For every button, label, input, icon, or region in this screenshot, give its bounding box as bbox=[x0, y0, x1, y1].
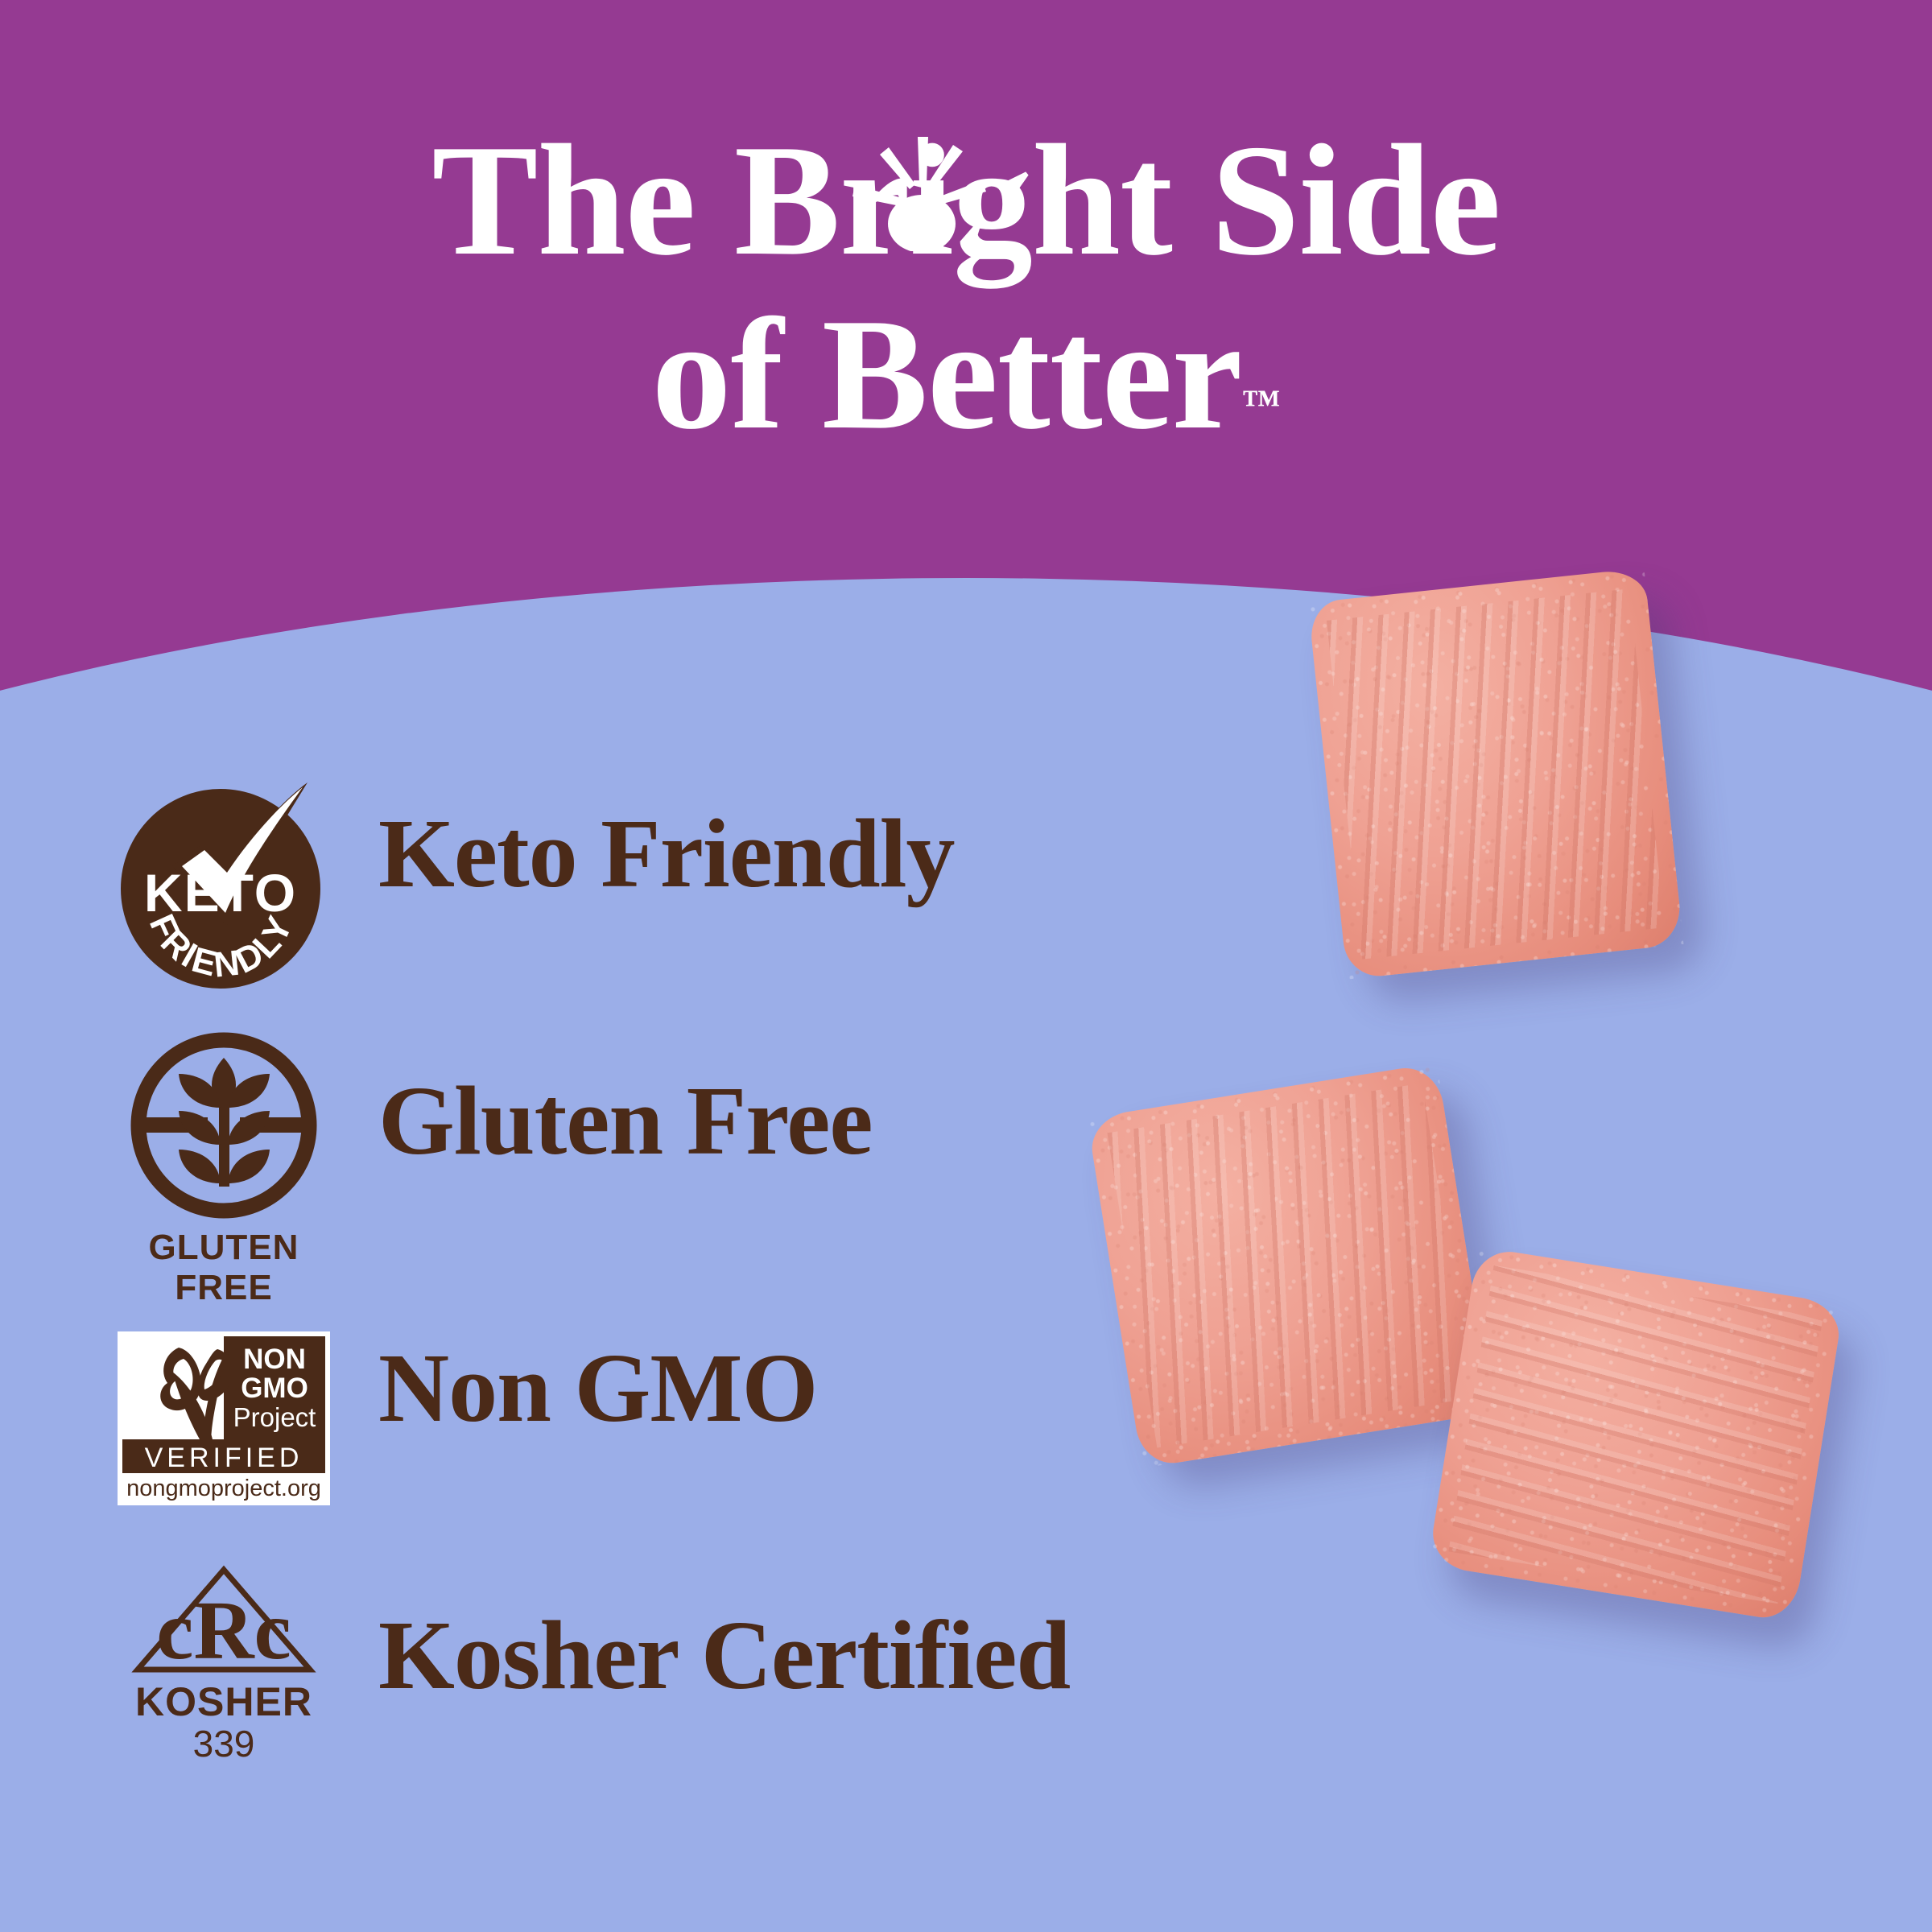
claim-badge-non-gmo: NON GMO Project VERIFIED nongmoproject.o… bbox=[95, 1298, 353, 1539]
claim-row-kosher: cRc KOSHER 339 Kosher Certified bbox=[95, 1565, 1206, 1832]
claim-row-non-gmo: NON GMO Project VERIFIED nongmoproject.o… bbox=[95, 1298, 1206, 1565]
headline-line-1: The Bright Side bbox=[0, 119, 1932, 282]
kosher-number: 339 bbox=[123, 1722, 324, 1765]
crc-kosher-icon: cRc bbox=[131, 1565, 316, 1678]
claim-label-non-gmo: Non GMO bbox=[378, 1340, 817, 1438]
claim-badge-keto: KETO FRIENDLY bbox=[95, 763, 353, 1005]
trademark-symbol: ™ bbox=[1242, 382, 1281, 425]
claim-label-kosher: Kosher Certified bbox=[378, 1607, 1070, 1705]
svg-text:GMO: GMO bbox=[241, 1373, 308, 1404]
gluten-free-icon bbox=[122, 1030, 325, 1220]
promo-graphic: The Bright Side of Better™ bbox=[0, 0, 1932, 1932]
claims-list: KETO FRIENDLY Keto Friendly bbox=[95, 763, 1206, 1832]
claim-row-gluten-free: GLUTEN FREE Gluten Free bbox=[95, 1030, 1206, 1298]
claim-label-keto: Keto Friendly bbox=[378, 805, 955, 903]
svg-text:NON: NON bbox=[243, 1344, 306, 1375]
non-gmo-project-verified-icon: NON GMO Project VERIFIED nongmoproject.o… bbox=[122, 1336, 325, 1501]
claim-label-gluten-free: Gluten Free bbox=[378, 1072, 873, 1170]
keto-friendly-icon: KETO FRIENDLY bbox=[116, 776, 332, 992]
headline-line-2: of Better™ bbox=[0, 293, 1932, 456]
svg-text:VERIFIED: VERIFIED bbox=[145, 1443, 303, 1473]
svg-text:nongmoproject.org: nongmoproject.org bbox=[126, 1476, 321, 1501]
claim-badge-gluten-free: GLUTEN FREE bbox=[95, 1030, 353, 1272]
page-title: The Bright Side of Better™ bbox=[0, 119, 1932, 456]
svg-text:cRc: cRc bbox=[156, 1584, 291, 1677]
gluten-free-caption: GLUTEN FREE bbox=[116, 1228, 332, 1308]
claim-row-keto: KETO FRIENDLY Keto Friendly bbox=[95, 763, 1206, 1030]
kosher-word: KOSHER bbox=[123, 1678, 324, 1725]
svg-text:Project: Project bbox=[233, 1402, 316, 1432]
headline-line-2-text: of Better bbox=[651, 286, 1241, 462]
claim-badge-kosher: cRc KOSHER 339 bbox=[95, 1565, 353, 1806]
